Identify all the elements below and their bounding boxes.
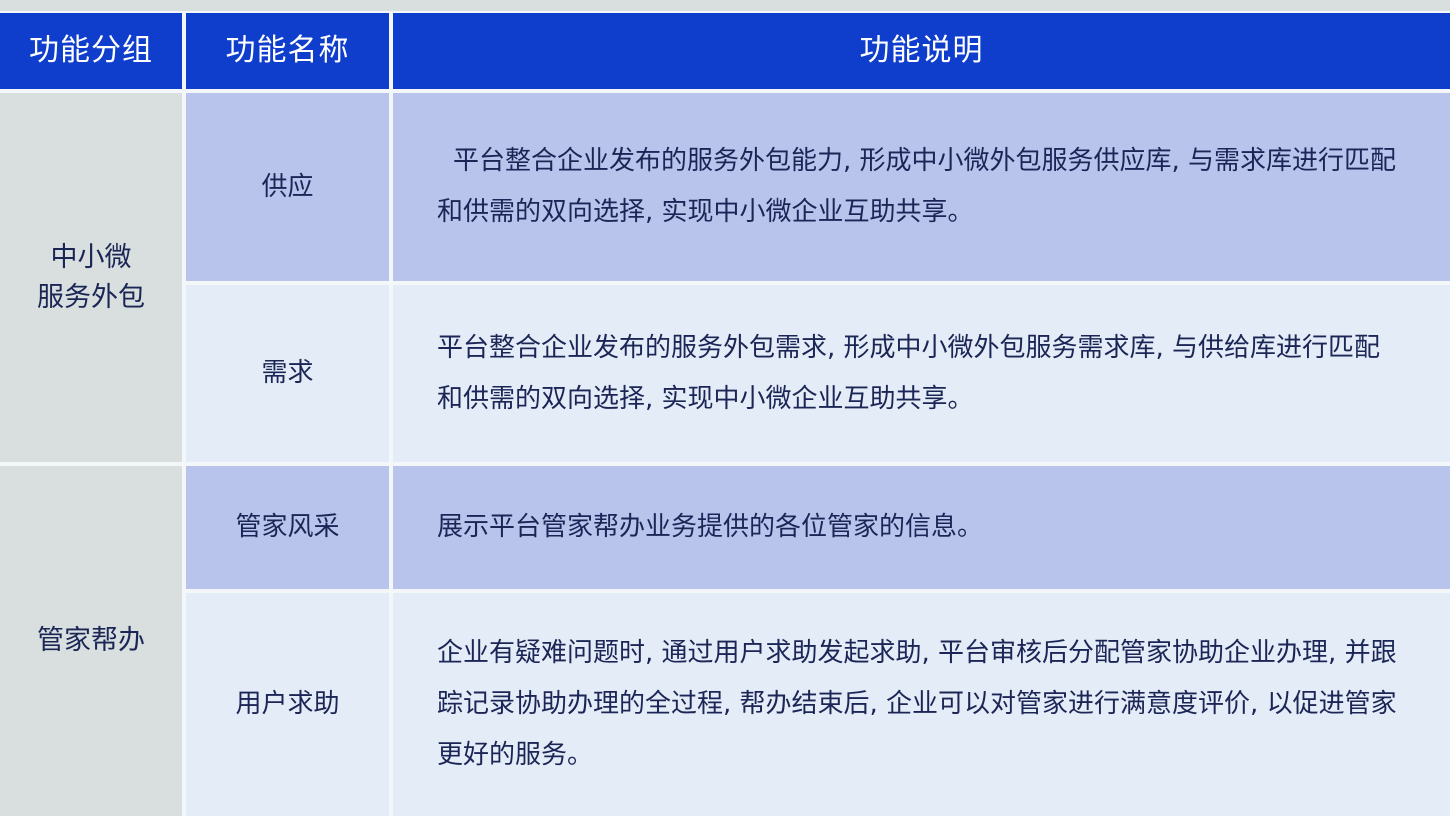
name-label-user-help-request: 用户求助 (235, 686, 339, 722)
top-background-strip (0, 0, 1450, 11)
table-header-cell-group: 功能分组 (0, 13, 182, 89)
description-cell-butler-profile: 展示平台管家帮办业务提供的各位管家的信息。 (393, 466, 1450, 589)
name-cell-demand: 需求 (186, 285, 389, 462)
name-cell-butler-profile: 管家风采 (186, 466, 389, 589)
group-cell-butler-service: 管家帮办 (0, 466, 182, 816)
group-label-butler-service: 管家帮办 (37, 621, 145, 660)
table-header-cell-name: 功能名称 (186, 13, 389, 89)
name-label-butler-profile: 管家风采 (235, 509, 339, 545)
header-label-description: 功能说明 (860, 34, 984, 69)
description-text-user-help-request: 企业有疑难问题时, 通过用户求助发起求助, 平台审核后分配管家协助企业办理, 并… (393, 628, 1450, 780)
name-label-supply: 供应 (261, 169, 313, 205)
group-label-sme-outsourcing: 中小微服务外包 (37, 238, 145, 316)
description-text-demand: 平台整合企业发布的服务外包需求, 形成中小微外包服务需求库, 与供给库进行匹配和… (393, 323, 1450, 424)
description-text-butler-profile: 展示平台管家帮办业务提供的各位管家的信息。 (393, 502, 1027, 553)
description-cell-user-help-request: 企业有疑难问题时, 通过用户求助发起求助, 平台审核后分配管家协助企业办理, 并… (393, 593, 1450, 816)
group-cell-sme-outsourcing: 中小微服务外包 (0, 93, 182, 462)
name-cell-supply: 供应 (186, 93, 389, 281)
description-cell-supply: 平台整合企业发布的服务外包能力, 形成中小微外包服务供应库, 与需求库进行匹配和… (393, 93, 1450, 281)
header-label-name: 功能名称 (226, 34, 350, 69)
table-header-cell-description: 功能说明 (393, 13, 1450, 89)
description-cell-demand: 平台整合企业发布的服务外包需求, 形成中小微外包服务需求库, 与供给库进行匹配和… (393, 285, 1450, 462)
description-text-supply: 平台整合企业发布的服务外包能力, 形成中小微外包服务供应库, 与需求库进行匹配和… (393, 136, 1450, 237)
name-label-demand: 需求 (261, 355, 313, 391)
functions-table-page: 功能分组 功能名称 功能说明 中小微服务外包 管家帮办 供应 平台整合企业发布的… (0, 0, 1450, 816)
name-cell-user-help-request: 用户求助 (186, 593, 389, 816)
top-background-strip-left (0, 0, 182, 11)
header-label-group: 功能分组 (29, 34, 153, 69)
